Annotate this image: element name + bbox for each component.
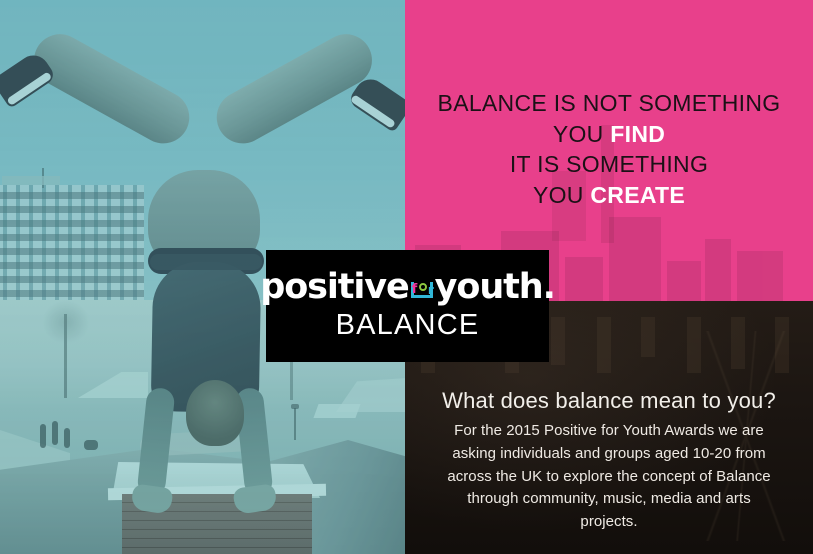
slogan-text: BALANCE IS NOT SOMETHING YOU FIND IT IS … xyxy=(405,88,813,210)
poster-canvas: BALANCE IS NOT SOMETHING YOU FIND IT IS … xyxy=(0,0,813,554)
slogan-line-2-prefix: YOU xyxy=(553,121,610,147)
for-mark-letter-f: f xyxy=(412,283,417,296)
slogan-line-2: YOU FIND xyxy=(405,119,813,150)
for-mark-icon: f r xyxy=(410,274,434,298)
slogan-line-4: YOU CREATE xyxy=(405,180,813,211)
logo-wordmark: positive f r youth. xyxy=(260,270,555,305)
slogan-line-4-highlight: CREATE xyxy=(590,182,685,208)
slogan-line-4-prefix: YOU xyxy=(533,182,590,208)
slogan-line-2-highlight: FIND xyxy=(610,121,665,147)
slogan-line-3: IT IS SOMETHING xyxy=(405,149,813,180)
callout-headline: What does balance mean to you? xyxy=(405,388,813,414)
callout-body: For the 2015 Positive for Youth Awards w… xyxy=(443,420,775,534)
logo-word-positive: positive xyxy=(260,270,408,305)
for-mark-letter-o xyxy=(419,283,427,291)
logo-subtitle: BALANCE xyxy=(336,309,480,342)
for-mark-letter-r: r xyxy=(428,284,433,296)
logo-word-youth: youth. xyxy=(435,270,555,305)
logo-block: positive f r youth. BALANCE xyxy=(266,250,549,362)
slogan-line-1: BALANCE IS NOT SOMETHING xyxy=(405,88,813,119)
